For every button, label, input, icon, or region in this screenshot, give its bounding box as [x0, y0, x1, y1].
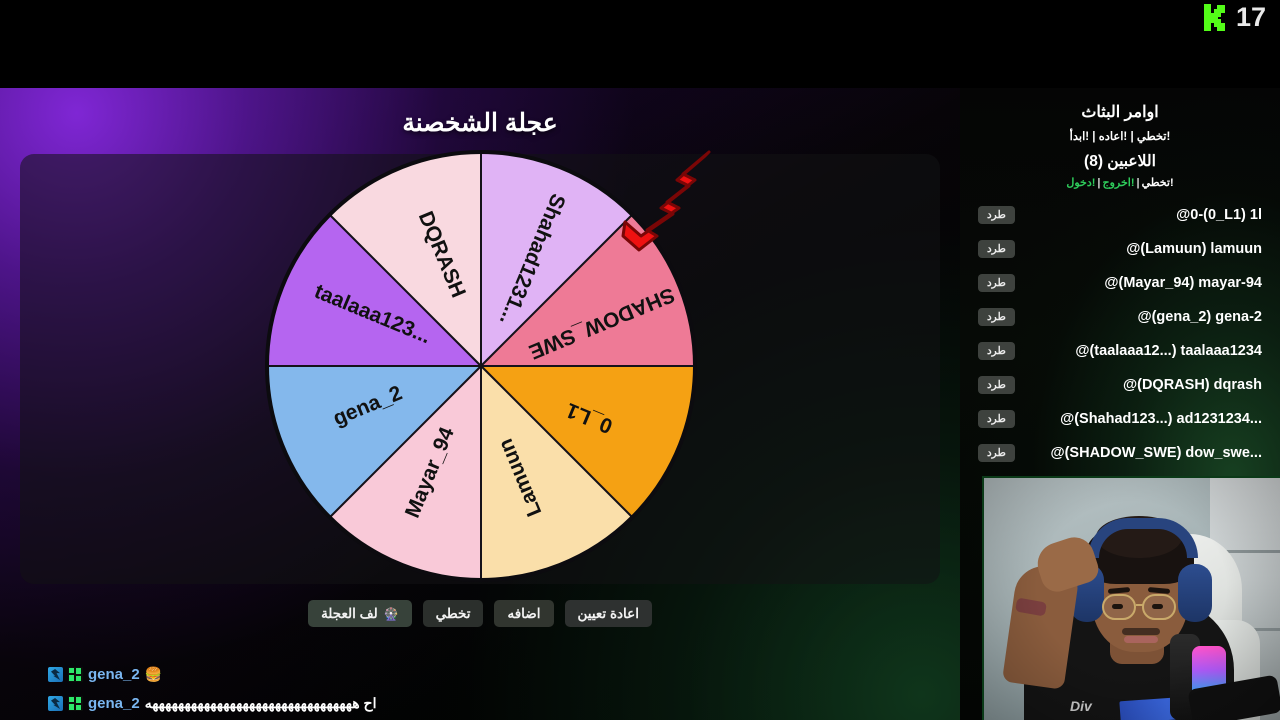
join-cmd-skip: !تخطي — [1142, 177, 1174, 189]
player-name: @(taalaaa12...) taalaaa1234 — [1025, 343, 1262, 359]
player-row: @(taalaaa12...) taalaaa1234 طرد — [960, 334, 1280, 368]
panel-title: اوامر البثاث — [960, 102, 1280, 122]
wheel-actions: 🎡 لف العجلة تخطي اضافه اعادة تعيين — [0, 600, 960, 627]
verified-badge-icon — [48, 667, 63, 682]
player-name: @(DQRASH) dqrash — [1025, 377, 1262, 393]
player-row: @(SHADOW_SWE) dow_swe... طرد — [960, 436, 1280, 470]
chat-username[interactable]: gena_2 — [88, 695, 140, 712]
chat-username[interactable]: gena_2 — [88, 666, 140, 683]
player-row: @(DQRASH) dqrash طرد — [960, 368, 1280, 402]
streamer-webcam[interactable]: Div — [982, 476, 1280, 720]
players-heading: اللاعبين (8) — [960, 152, 1280, 171]
player-list: @0-(0_L1) 1l طرد @(Lamuun) lamuun طرد @(… — [960, 198, 1280, 470]
player-name: @0-(0_L1) 1l — [1025, 207, 1262, 223]
player-name: @(Lamuun) lamuun — [1025, 241, 1262, 257]
chat-message-row: gena_2 اح هههههههههههههههههههههههههههههه… — [48, 689, 668, 718]
join-cmd-join: !دخول — [1066, 177, 1095, 189]
kick-player-button[interactable]: طرد — [978, 376, 1015, 394]
viewer-badge: 17 — [1204, 2, 1266, 33]
subscriber-badge-icon — [68, 667, 83, 682]
chat-text: 🍔 — [145, 666, 162, 683]
spin-wheel[interactable]: Shahad1231... SHADOW_SWE 0_L1 Lamuun May… — [265, 150, 697, 582]
add-button[interactable]: اضافه — [494, 600, 553, 627]
kick-logo-icon — [1204, 4, 1228, 32]
wheel-title: عجلة الشخصنة — [0, 108, 960, 138]
verified-badge-icon — [48, 696, 63, 711]
wheel-scene: عجلة الشخصنة — [0, 88, 960, 720]
player-row: @(gena_2) gena-2 طرد — [960, 300, 1280, 334]
reset-button[interactable]: اعادة تعيين — [565, 600, 652, 627]
wheel-emoji-icon: 🎡 — [384, 607, 399, 621]
stream-screen: 17 عجلة الشخصنة — [0, 0, 1280, 720]
join-commands: !تخطي|!اخروج|!دخول — [960, 176, 1280, 189]
viewer-count: 17 — [1236, 2, 1266, 33]
player-name: @(Mayar_94) mayar-94 — [1025, 275, 1262, 291]
webcam-vignette — [984, 478, 1280, 720]
wheel-svg[interactable]: Shahad1231... SHADOW_SWE 0_L1 Lamuun May… — [265, 150, 697, 582]
kick-player-button[interactable]: طرد — [978, 410, 1015, 428]
subscriber-badge-icon — [68, 696, 83, 711]
kick-player-button[interactable]: طرد — [978, 240, 1015, 258]
player-row: @(Lamuun) lamuun طرد — [960, 232, 1280, 266]
panel-commands: !تخطي | !اعاده | !ابدأ — [960, 129, 1280, 143]
join-cmd-leave: !اخروج — [1103, 177, 1135, 189]
kick-player-button[interactable]: طرد — [978, 206, 1015, 224]
player-name: @(gena_2) gena-2 — [1025, 309, 1262, 325]
wheel-segments[interactable] — [267, 152, 695, 580]
kick-player-button[interactable]: طرد — [978, 342, 1015, 360]
player-row: @0-(0_L1) 1l طرد — [960, 198, 1280, 232]
chat-text: اح ههههههههههههههههههههههههههههههههه — [145, 695, 377, 712]
player-name: @(Shahad123...) ad1231234... — [1025, 411, 1262, 427]
kick-player-button[interactable]: طرد — [978, 444, 1015, 462]
kick-player-button[interactable]: طرد — [978, 274, 1015, 292]
kick-player-button[interactable]: طرد — [978, 308, 1015, 326]
skip-button[interactable]: تخطي — [423, 600, 484, 627]
chat-overlay: gena_2 🍔 gena_2 اح ههههههههههههههههههههه… — [48, 660, 668, 718]
player-row: @(Mayar_94) mayar-94 طرد — [960, 266, 1280, 300]
webcam-feed: Div — [984, 478, 1280, 720]
player-row: @(Shahad123...) ad1231234... طرد — [960, 402, 1280, 436]
spin-wheel-label: لف العجلة — [321, 606, 378, 622]
spin-wheel-button[interactable]: 🎡 لف العجلة — [308, 600, 412, 627]
top-bar: 17 — [0, 0, 1280, 88]
player-name: @(SHADOW_SWE) dow_swe... — [1025, 445, 1262, 461]
chat-message-row: gena_2 🍔 — [48, 660, 668, 689]
